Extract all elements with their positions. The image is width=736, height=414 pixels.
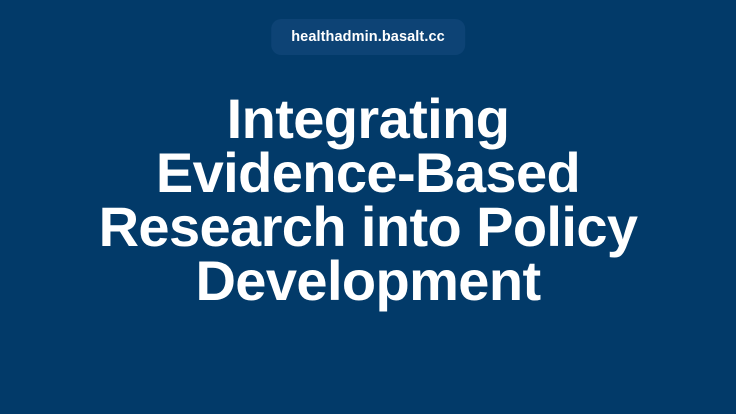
title-line-3: Research into Policy (24, 200, 712, 254)
title-line-4: Development (24, 254, 712, 308)
title-line-1: Integrating (24, 92, 712, 146)
page-title: Integrating Evidence-Based Research into… (0, 92, 736, 308)
slide-canvas: healthadmin.basalt.cc Integrating Eviden… (0, 0, 736, 414)
title-line-2: Evidence-Based (24, 146, 712, 200)
url-badge[interactable]: healthadmin.basalt.cc (271, 19, 465, 55)
url-text: healthadmin.basalt.cc (291, 30, 445, 45)
